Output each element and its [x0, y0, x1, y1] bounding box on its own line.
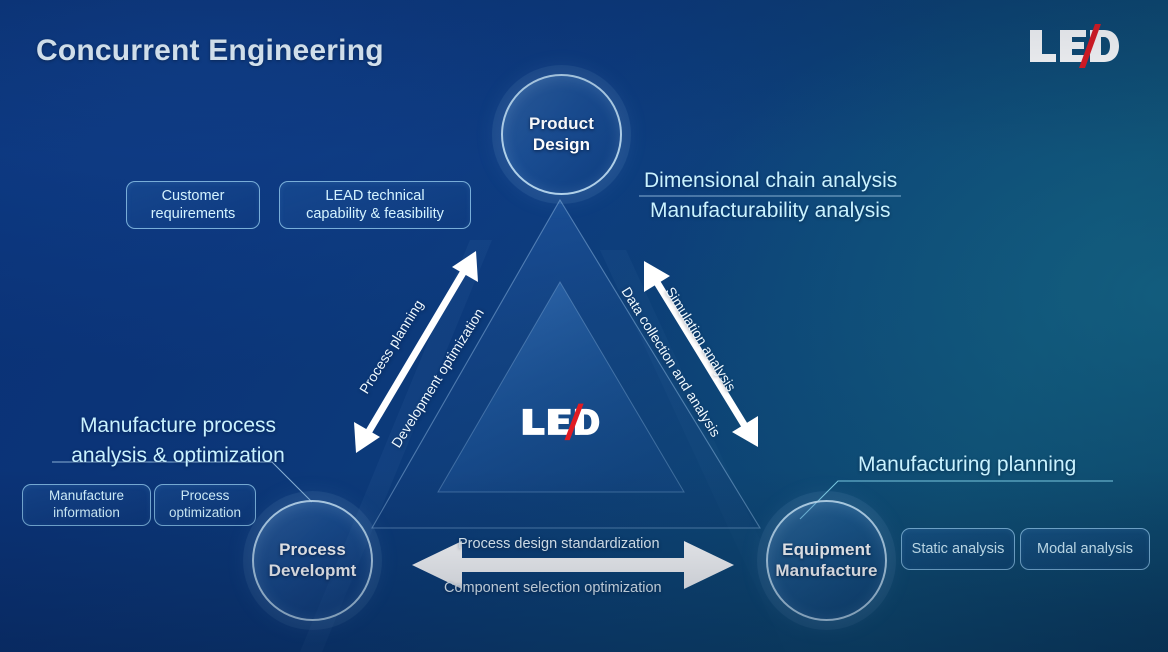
arrow-label-process-design-standardization: Process design standardization — [458, 536, 660, 552]
tag-label: Manufactureinformation — [49, 488, 124, 522]
tag-label: Modal analysis — [1037, 540, 1133, 558]
lead-logo-header — [1028, 22, 1120, 70]
callout-line-dimensional-chain: Dimensional chain analysis — [644, 169, 897, 192]
callout-top-right: Dimensional chain analysis Manufacturabi… — [644, 166, 897, 226]
tag-modal-analysis[interactable]: Modal analysis — [1020, 528, 1150, 570]
tag-process-optimization[interactable]: Processoptimization — [154, 484, 256, 526]
node-product-design[interactable]: ProductDesign — [501, 74, 622, 195]
callout-manufacturing-planning: Manufacturing planning — [858, 450, 1076, 480]
node-label: EquipmentManufacture — [775, 540, 877, 580]
callout-manufacture-process: Manufacture process analysis & optimizat… — [52, 411, 304, 471]
node-equipment-manufacture[interactable]: EquipmentManufacture — [766, 500, 887, 621]
tag-label: Static analysis — [912, 540, 1005, 558]
tag-label: Processoptimization — [169, 488, 241, 522]
tag-label: LEAD technicalcapability & feasibility — [306, 187, 444, 223]
slide-canvas: Concurrent Engineering — [0, 0, 1168, 652]
node-label: ProductDesign — [529, 114, 594, 154]
tag-label: Customerrequirements — [151, 187, 236, 223]
tag-manufacture-information[interactable]: Manufactureinformation — [22, 484, 151, 526]
tag-lead-technical-capability[interactable]: LEAD technicalcapability & feasibility — [279, 181, 471, 229]
node-label: ProcessDevelopmt — [269, 540, 357, 580]
arrow-label-component-selection-optimization: Component selection optimization — [444, 580, 662, 596]
lead-logo-center — [521, 398, 601, 444]
page-title: Concurrent Engineering — [36, 34, 384, 68]
callout-line-manufacturability: Manufacturability analysis — [644, 196, 897, 226]
node-process-development[interactable]: ProcessDevelopmt — [252, 500, 373, 621]
tag-static-analysis[interactable]: Static analysis — [901, 528, 1015, 570]
tag-customer-requirements[interactable]: Customerrequirements — [126, 181, 260, 229]
